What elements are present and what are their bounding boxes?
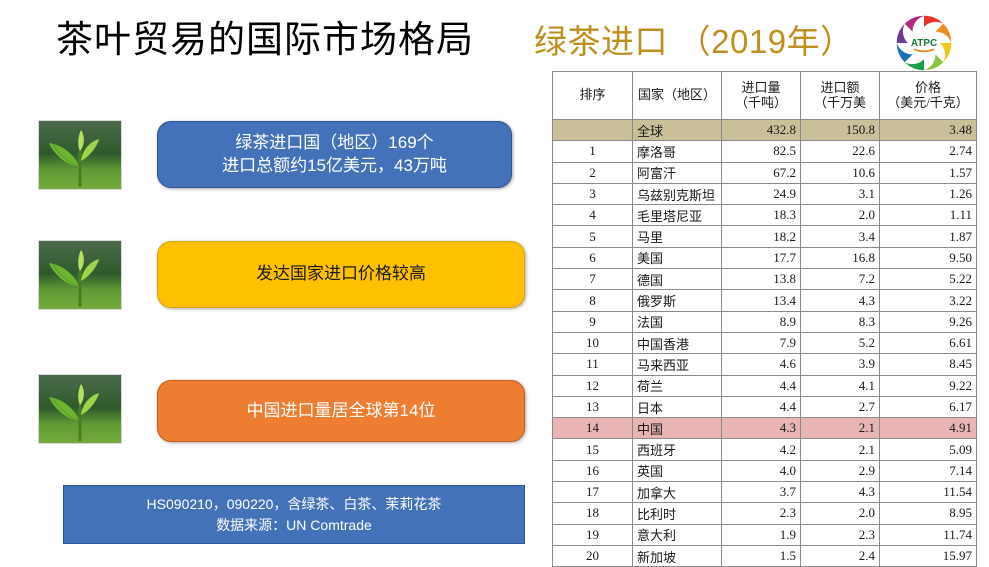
cell-volume: 1.5	[722, 545, 801, 566]
table-row: 15西班牙4.22.15.09	[553, 439, 977, 460]
cell-country: 全球	[633, 120, 722, 141]
cell-price: 1.26	[880, 183, 977, 204]
cell-volume: 7.9	[722, 332, 801, 353]
import-data-table: 排序 国家（地区） 进口量 （千吨） 进口额 （千万美 价格 （美元/千克） 全…	[552, 71, 977, 567]
cell-volume: 4.4	[722, 375, 801, 396]
cell-country: 摩洛哥	[633, 141, 722, 162]
table-row: 9法国8.98.39.26	[553, 311, 977, 332]
cell-rank: 9	[553, 311, 633, 332]
footnote-source-box: HS090210，090220，含绿茶、白茶、茉莉花茶 数据来源：UN Comt…	[63, 485, 525, 544]
cell-price: 6.17	[880, 396, 977, 417]
table-row: 14中国4.32.14.91	[553, 418, 977, 439]
table-row: 2阿富汗67.210.61.57	[553, 162, 977, 183]
table-row: 12荷兰4.44.19.22	[553, 375, 977, 396]
cell-country: 法国	[633, 311, 722, 332]
table-row: 18比利时2.32.08.95	[553, 503, 977, 524]
cell-value: 2.4	[801, 545, 880, 566]
cell-price: 11.54	[880, 482, 977, 503]
cell-price: 6.61	[880, 332, 977, 353]
cell-volume: 4.0	[722, 460, 801, 481]
table-body: 全球432.8150.83.481摩洛哥82.522.62.742阿富汗67.2…	[553, 120, 977, 567]
cell-price: 5.09	[880, 439, 977, 460]
cell-rank: 8	[553, 290, 633, 311]
cell-rank: 4	[553, 205, 633, 226]
cell-value: 2.1	[801, 439, 880, 460]
cell-volume: 13.8	[722, 269, 801, 290]
cell-volume: 4.3	[722, 418, 801, 439]
cell-rank: 15	[553, 439, 633, 460]
tea-leaf-photo	[38, 374, 122, 444]
cell-value: 3.9	[801, 354, 880, 375]
atpc-logo-icon: ATPC	[891, 12, 957, 74]
cell-volume: 4.2	[722, 439, 801, 460]
cell-rank: 19	[553, 524, 633, 545]
cell-rank: 16	[553, 460, 633, 481]
cell-country: 西班牙	[633, 439, 722, 460]
cell-country: 乌兹别克斯坦	[633, 183, 722, 204]
cell-rank: 10	[553, 332, 633, 353]
tea-leaf-photo	[38, 240, 122, 310]
cell-value: 3.1	[801, 183, 880, 204]
cell-volume: 4.6	[722, 354, 801, 375]
cell-country: 中国	[633, 418, 722, 439]
callout-developed-price-label: 发达国家进口价格较高	[256, 263, 426, 285]
atpc-logo-text: ATPC	[911, 38, 937, 49]
table-row: 3乌兹别克斯坦24.93.11.26	[553, 183, 977, 204]
col-header-rank: 排序	[553, 72, 633, 120]
cell-rank: 3	[553, 183, 633, 204]
cell-price: 1.57	[880, 162, 977, 183]
cell-volume: 2.3	[722, 503, 801, 524]
cell-price: 2.74	[880, 141, 977, 162]
footnote-source-label: HS090210，090220，含绿茶、白茶、茉莉花茶 数据来源：UN Comt…	[147, 494, 442, 536]
cell-rank: 12	[553, 375, 633, 396]
cell-volume: 1.9	[722, 524, 801, 545]
cell-value: 3.4	[801, 226, 880, 247]
cell-rank: 18	[553, 503, 633, 524]
cell-rank: 11	[553, 354, 633, 375]
cell-country: 英国	[633, 460, 722, 481]
cell-volume: 17.7	[722, 247, 801, 268]
cell-price: 4.91	[880, 418, 977, 439]
table-row: 全球432.8150.83.48	[553, 120, 977, 141]
cell-country: 毛里塔尼亚	[633, 205, 722, 226]
cell-rank: 13	[553, 396, 633, 417]
cell-price: 9.22	[880, 375, 977, 396]
table-row: 16英国4.02.97.14	[553, 460, 977, 481]
cell-country: 新加坡	[633, 545, 722, 566]
table-row: 7德国13.87.25.22	[553, 269, 977, 290]
table-row: 17加拿大3.74.311.54	[553, 482, 977, 503]
cell-country: 马来西亚	[633, 354, 722, 375]
cell-volume: 8.9	[722, 311, 801, 332]
callout-developed-price: 发达国家进口价格较高	[157, 241, 525, 308]
col-header-volume: 进口量 （千吨）	[722, 72, 801, 120]
cell-volume: 432.8	[722, 120, 801, 141]
cell-value: 150.8	[801, 120, 880, 141]
cell-country: 日本	[633, 396, 722, 417]
cell-price: 5.22	[880, 269, 977, 290]
table-row: 5马里18.23.41.87	[553, 226, 977, 247]
table-row: 11马来西亚4.63.98.45	[553, 354, 977, 375]
cell-country: 阿富汗	[633, 162, 722, 183]
cell-rank	[553, 120, 633, 141]
import-data-table-wrap: 排序 国家（地区） 进口量 （千吨） 进口额 （千万美 价格 （美元/千克） 全…	[552, 71, 976, 550]
table-header: 排序 国家（地区） 进口量 （千吨） 进口额 （千万美 价格 （美元/千克）	[553, 72, 977, 120]
cell-value: 5.2	[801, 332, 880, 353]
cell-value: 2.3	[801, 524, 880, 545]
cell-rank: 5	[553, 226, 633, 247]
cell-value: 10.6	[801, 162, 880, 183]
table-header-row: 排序 国家（地区） 进口量 （千吨） 进口额 （千万美 价格 （美元/千克）	[553, 72, 977, 120]
cell-value: 4.3	[801, 482, 880, 503]
cell-rank: 17	[553, 482, 633, 503]
cell-price: 9.50	[880, 247, 977, 268]
cell-price: 3.22	[880, 290, 977, 311]
slide-canvas: 茶叶贸易的国际市场格局 绿茶进口 （2019年） AT	[0, 0, 989, 556]
cell-country: 马里	[633, 226, 722, 247]
cell-country: 加拿大	[633, 482, 722, 503]
callout-import-countries-label: 绿茶进口国（地区）169个 进口总额约15亿美元，43万吨	[222, 132, 447, 177]
cell-value: 8.3	[801, 311, 880, 332]
cell-rank: 20	[553, 545, 633, 566]
table-row: 13日本4.42.76.17	[553, 396, 977, 417]
cell-price: 9.26	[880, 311, 977, 332]
callout-import-countries: 绿茶进口国（地区）169个 进口总额约15亿美元，43万吨	[157, 121, 512, 188]
cell-volume: 4.4	[722, 396, 801, 417]
cell-price: 11.74	[880, 524, 977, 545]
cell-value: 4.3	[801, 290, 880, 311]
cell-volume: 18.2	[722, 226, 801, 247]
cell-rank: 6	[553, 247, 633, 268]
cell-volume: 67.2	[722, 162, 801, 183]
cell-country: 荷兰	[633, 375, 722, 396]
cell-country: 比利时	[633, 503, 722, 524]
cell-value: 2.1	[801, 418, 880, 439]
col-header-price: 价格 （美元/千克）	[880, 72, 977, 120]
cell-value: 2.0	[801, 205, 880, 226]
cell-value: 16.8	[801, 247, 880, 268]
cell-value: 7.2	[801, 269, 880, 290]
cell-rank: 1	[553, 141, 633, 162]
cell-rank: 2	[553, 162, 633, 183]
cell-price: 3.48	[880, 120, 977, 141]
table-row: 4毛里塔尼亚18.32.01.11	[553, 205, 977, 226]
cell-value: 2.9	[801, 460, 880, 481]
page-subtitle: 绿茶进口 （2019年）	[534, 22, 854, 62]
cell-country: 俄罗斯	[633, 290, 722, 311]
col-header-country: 国家（地区）	[633, 72, 722, 120]
table-row: 8俄罗斯13.44.33.22	[553, 290, 977, 311]
table-row: 19意大利1.92.311.74	[553, 524, 977, 545]
cell-country: 意大利	[633, 524, 722, 545]
table-row: 6美国17.716.89.50	[553, 247, 977, 268]
cell-price: 1.11	[880, 205, 977, 226]
cell-value: 22.6	[801, 141, 880, 162]
cell-volume: 24.9	[722, 183, 801, 204]
table-row: 20新加坡1.52.415.97	[553, 545, 977, 566]
cell-volume: 18.3	[722, 205, 801, 226]
cell-value: 2.7	[801, 396, 880, 417]
tea-leaf-photo	[38, 120, 122, 190]
col-header-value: 进口额 （千万美	[801, 72, 880, 120]
cell-country: 美国	[633, 247, 722, 268]
cell-price: 7.14	[880, 460, 977, 481]
cell-country: 中国香港	[633, 332, 722, 353]
cell-volume: 13.4	[722, 290, 801, 311]
cell-price: 1.87	[880, 226, 977, 247]
cell-rank: 14	[553, 418, 633, 439]
cell-country: 德国	[633, 269, 722, 290]
page-title: 茶叶贸易的国际市场格局	[56, 18, 474, 62]
cell-price: 8.95	[880, 503, 977, 524]
callout-china-rank-label: 中国进口量居全球第14位	[247, 400, 436, 422]
slide-title-bar: 茶叶贸易的国际市场格局 绿茶进口 （2019年） AT	[0, 8, 989, 68]
table-row: 10中国香港7.95.26.61	[553, 332, 977, 353]
cell-price: 8.45	[880, 354, 977, 375]
cell-volume: 82.5	[722, 141, 801, 162]
table-row: 1摩洛哥82.522.62.74	[553, 141, 977, 162]
callout-china-rank: 中国进口量居全球第14位	[157, 380, 525, 442]
cell-price: 15.97	[880, 545, 977, 566]
cell-value: 4.1	[801, 375, 880, 396]
cell-rank: 7	[553, 269, 633, 290]
cell-volume: 3.7	[722, 482, 801, 503]
cell-value: 2.0	[801, 503, 880, 524]
